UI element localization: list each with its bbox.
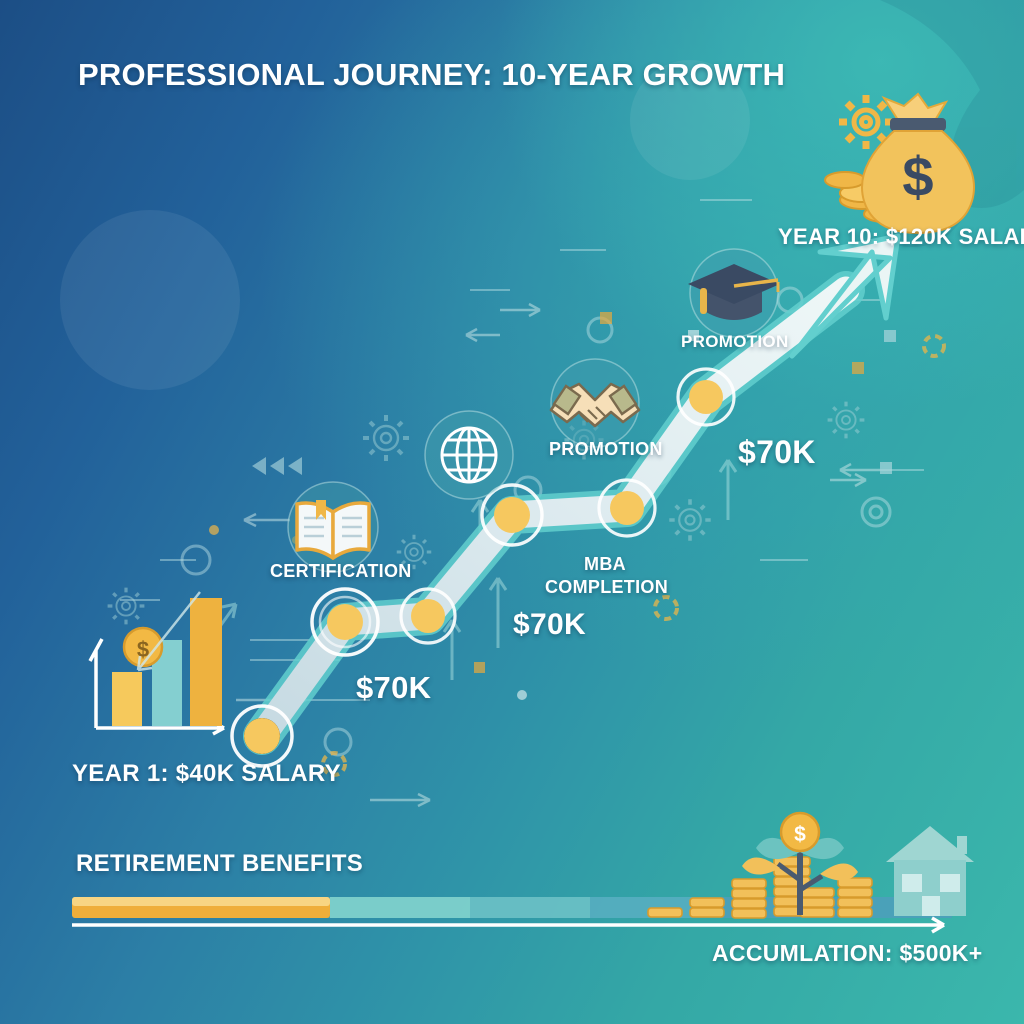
house-icon	[886, 826, 974, 916]
label-promotion-mid: PROMOTION	[549, 439, 663, 460]
page-title: PROFESSIONAL JOURNEY: 10-YEAR GROWTH	[78, 57, 785, 93]
label-mba-completion: MBA COMPLETION	[545, 553, 665, 599]
label-accumulation: ACCUMLATION: $500K+	[712, 940, 982, 967]
label-promotion-mid-salary: $70K	[738, 434, 816, 471]
svg-text:$: $	[794, 823, 806, 846]
label-promotion-top: PROMOTION	[681, 332, 789, 352]
label-year-1: YEAR 1: $40K SALARY	[72, 760, 341, 788]
label-retirement-benefits: RETIREMENT BENEFITS	[76, 850, 363, 878]
label-mba-salary: $70K	[513, 608, 586, 642]
infographic-canvas: $ $	[0, 0, 1024, 1024]
label-year-10: YEAR 10: $120K SALARY	[778, 224, 1024, 250]
label-certification: CERTIFICATION	[270, 561, 412, 582]
label-segment1-salary: $70K	[356, 670, 431, 706]
